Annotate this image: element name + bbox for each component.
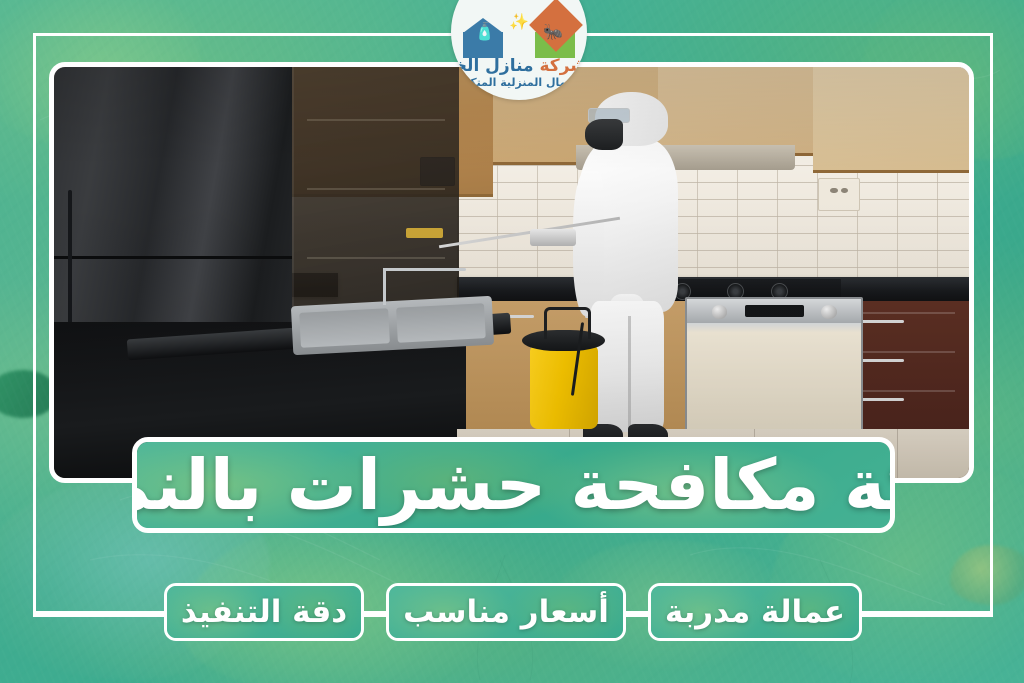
headline-box: شركة مكافحة حشرات بالنماص [132,437,895,533]
logo-title-orange: شركة [540,56,588,76]
logo-inner: 🧴 ✨ 🐜 شركة منازل الخليج للأعمال المنزلية… [451,0,587,100]
connector-line [626,611,648,614]
logo-house-marks: 🧴 ✨ 🐜 [463,6,575,58]
badge-label: عمالة مدربة [665,594,845,630]
logo-title: شركة منازل الخليج [451,56,587,76]
logo-title-blue: منازل الخليج [451,56,540,76]
badge-precision[interactable]: دقة التنفيذ [164,583,364,641]
insect-icon: 🐜 [543,22,563,41]
badge-fair-prices[interactable]: أسعار مناسب [386,583,626,641]
badge-label: أسعار مناسب [403,594,609,630]
spray-bottle-icon: 🧴 [474,22,495,42]
company-logo[interactable]: 🧴 ✨ 🐜 شركة منازل الخليج للأعمال المنزلية… [451,0,587,100]
bug-spray-icon: ✨ [509,12,529,31]
poster-canvas: 🧴 ✨ 🐜 شركة منازل الخليج للأعمال المنزلية… [0,0,1024,683]
feature-badges-row: عمالة مدربة أسعار مناسب دقة التنفيذ [33,583,993,641]
kitchen-scene [54,67,969,478]
page-title: شركة مكافحة حشرات بالنماص [132,450,895,520]
hero-photo [49,62,974,483]
badge-label: دقة التنفيذ [181,594,347,630]
badge-trained-staff[interactable]: عمالة مدربة [648,583,862,641]
connector-line-left [33,611,164,614]
connector-line-right [862,611,993,614]
connector-line [364,611,386,614]
logo-subtitle: للأعمال المنزلية المتكاملة [451,76,587,89]
photo-vignette [54,67,969,478]
